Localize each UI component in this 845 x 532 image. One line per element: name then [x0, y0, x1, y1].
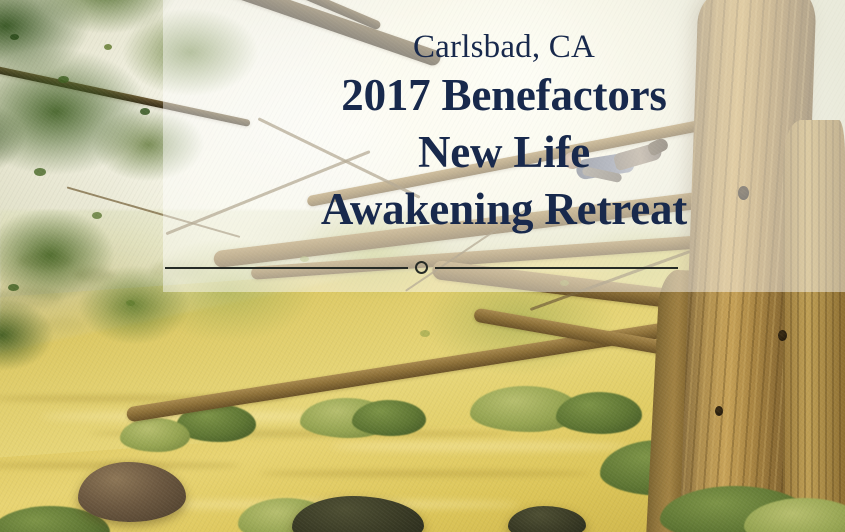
headline-line-1: 2017 Benefactors: [163, 67, 845, 124]
hero-banner: Carlsbad, CA 2017 Benefactors New Life A…: [0, 0, 845, 532]
divider-rule-right: [435, 267, 678, 269]
location-eyebrow: Carlsbad, CA: [163, 27, 845, 67]
trunk-knot: [715, 406, 723, 416]
circle-ornament-icon: [415, 261, 428, 274]
divider: [165, 266, 678, 269]
page-title: 2017 Benefactors New Life Awakening Retr…: [163, 67, 845, 238]
headline-line-2: New Life: [163, 124, 845, 181]
title-block: Carlsbad, CA 2017 Benefactors New Life A…: [163, 0, 845, 238]
divider-rule-left: [165, 267, 408, 269]
headline-line-3: Awakening Retreat: [163, 181, 845, 238]
trunk-knot: [778, 330, 787, 341]
